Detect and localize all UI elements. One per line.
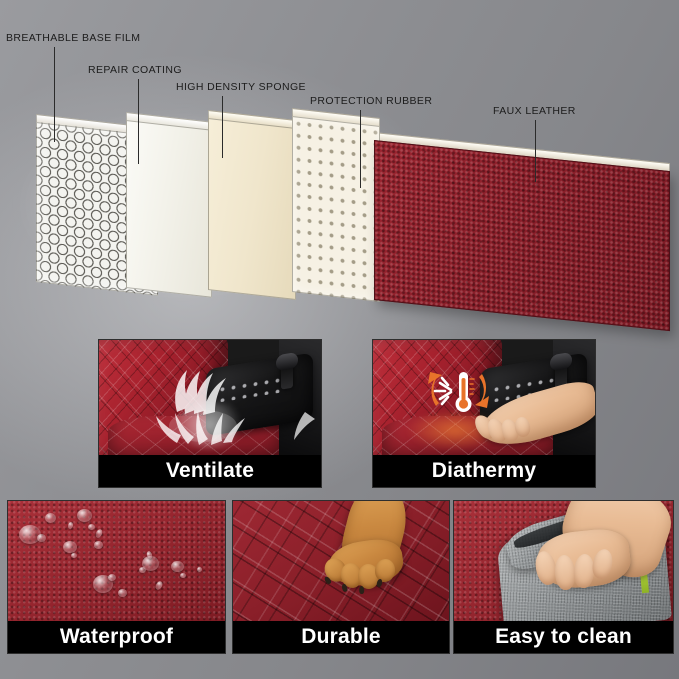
water-droplet [180,573,186,578]
console-buttons [216,374,282,402]
ventilate-photo [99,340,321,455]
feature-panel-durable[interactable]: Durable [232,500,450,654]
label-faux-leather: FAUX LEATHER [493,105,576,117]
infographic-canvas: BREATHABLE BASE FILM REPAIR COATING HIGH… [0,0,679,679]
diathermy-caption: Diathermy [373,455,595,487]
water-droplet [108,574,116,581]
ventilate-mist [169,402,249,448]
waterproof-caption-text: Waterproof [60,625,173,649]
red-leather-surface [8,501,225,621]
label-high-density-sponge: HIGH DENSITY SPONGE [176,81,306,93]
diathermy-photo [373,340,595,455]
durable-caption-text: Durable [301,625,381,649]
leader-line-repair-coating [138,79,139,164]
feature-panel-easy-to-clean[interactable]: Easy to clean [453,500,674,654]
water-droplet [171,561,184,572]
water-droplet [77,509,92,522]
layer-protection-rubber [292,116,380,302]
durable-caption: Durable [233,621,449,653]
water-droplet [139,567,146,573]
feature-panel-diathermy[interactable]: Diathermy [372,339,596,488]
layer-face-perforated-dots [292,116,380,302]
label-protection-rubber: PROTECTION RUBBER [310,95,432,107]
label-breathable-base-film: BREATHABLE BASE FILM [6,32,140,44]
gear-shifter [281,359,293,389]
water-droplet [37,534,46,542]
water-droplet [71,553,77,558]
ventilate-caption: Ventilate [99,455,321,487]
water-droplet [118,589,127,597]
label-repair-coating: REPAIR COATING [88,64,182,76]
waterproof-caption: Waterproof [8,621,225,653]
leader-line-faux-leather [535,120,536,182]
layer-face-pebbled-red-leather [374,140,670,331]
easy-to-clean-photo [454,501,673,621]
feature-panel-waterproof[interactable]: Waterproof [7,500,226,654]
ventilate-caption-text: Ventilate [166,459,254,483]
feature-panel-ventilate[interactable]: Ventilate [98,339,322,488]
leader-line-breathable-base-film [54,47,55,142]
easy-to-clean-caption: Easy to clean [454,621,673,653]
paw-claw [359,586,364,594]
layer-faux-leather [374,140,670,331]
water-droplet [63,541,77,553]
leader-line-protection-rubber [360,110,361,188]
water-droplet [45,513,56,523]
water-droplet [88,524,95,530]
waterproof-photo [8,501,225,621]
material-layer-diagram: BREATHABLE BASE FILM REPAIR COATING HIGH… [0,0,679,320]
water-droplet [94,541,103,549]
durable-photo [233,501,449,621]
easy-to-clean-caption-text: Easy to clean [495,625,632,649]
diathermy-caption-text: Diathermy [432,459,537,483]
water-droplet [197,567,202,572]
leader-line-high-density-sponge [222,96,223,158]
